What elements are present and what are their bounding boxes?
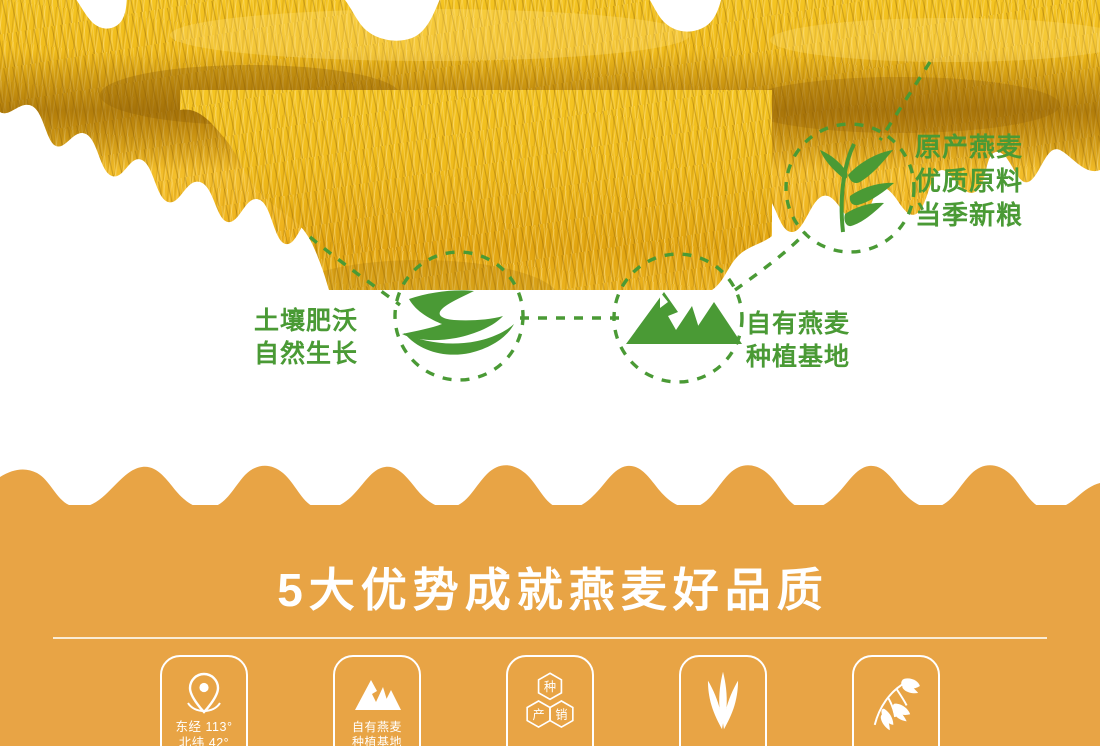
svg-text:种: 种 [544,680,556,694]
feature-card-row: 东经 113° 北纬 42° 自有燕麦 种植基地 [0,655,1100,746]
feature-card-plant-base[interactable]: 自有燕麦 种植基地 [333,655,421,746]
feature-card-label: 东经 113° 北纬 42° [176,720,233,746]
feature-card-label: 自有燕麦 种植基地 [352,720,402,746]
feature-card-sprout[interactable] [679,655,767,746]
node-label-mountain-base: 自有燕麦 种植基地 [746,308,850,373]
hexagon-trio-icon: 种 产 销 [524,670,576,732]
location-pin-icon [178,670,230,716]
svg-text:产: 产 [532,708,544,722]
page-title: 5大优势成就燕麦好品质 [0,567,1100,613]
svg-text:销: 销 [555,708,567,722]
feature-card-coordinates[interactable]: 东经 113° 北纬 42° [160,655,248,746]
title-divider [53,637,1047,639]
band-content: 5大优势成就燕麦好品质 东经 113° 北纬 42° [0,455,1100,746]
feature-card-oat[interactable] [852,655,940,746]
mountain-icon [351,670,403,716]
sprout-icon [697,670,749,732]
feature-card-chain[interactable]: 种 产 销 [506,655,594,746]
node-label-soil-river: 土壤肥沃 自然生长 [254,305,358,370]
promo-page: 原产燕麦 优质原料 当季新粮 土壤肥沃 自然生长 自有燕麦 种植基地 5大优势成… [0,0,1100,746]
node-label-oat-plant: 原产燕麦 优质原料 当季新粮 [915,131,1023,232]
mountain-icon [626,292,742,344]
river-land-icon [402,290,514,354]
advantages-band: 5大优势成就燕麦好品质 东经 113° 北纬 42° [0,455,1100,746]
oat-sprig-icon [870,670,922,732]
